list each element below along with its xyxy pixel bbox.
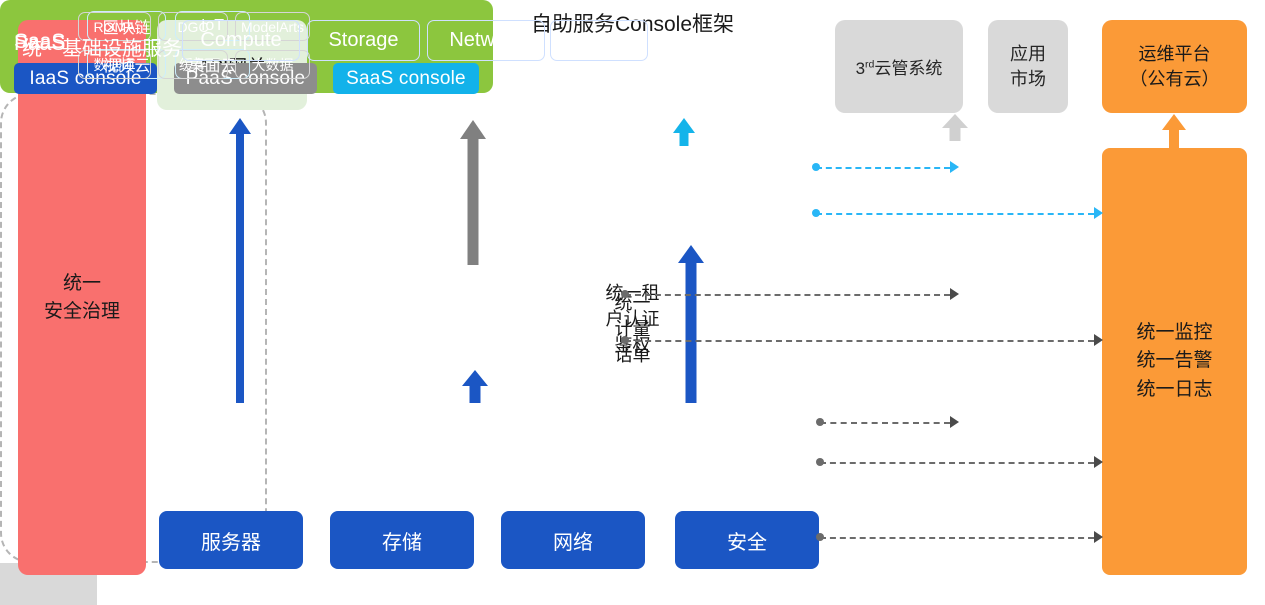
arrowhead-paas-to-ops	[1094, 334, 1103, 346]
arrowhead-iaas-to-ops	[1094, 456, 1103, 468]
ops-platform-label: 运维平台 （公有云）	[1130, 42, 1220, 91]
arrow-to-third-party-cloud	[942, 114, 968, 141]
iaas-chip-cce[interactable]: CCE	[550, 20, 648, 61]
dashed-line-paas-to-auth	[625, 294, 950, 296]
iaas-chip-network[interactable]: Network	[427, 20, 545, 61]
third-party-cloud-mgmt-label: 3rd云管系统	[856, 54, 943, 79]
hardware-box-network[interactable]: 网络	[501, 511, 645, 569]
dashed-line-saas-to-auth	[816, 167, 950, 169]
arrowhead-hardware-to-ops	[1094, 531, 1103, 543]
arrowhead-saas-to-ops	[1094, 207, 1103, 219]
arrow-paas-to-console	[461, 120, 485, 265]
app-market-box: 应用 市场	[988, 20, 1068, 113]
iaas-chip-storage[interactable]: Storage	[307, 20, 420, 61]
dashed-line-saas-to-ops	[816, 213, 1094, 215]
dashed-line-iaas-to-auth	[820, 422, 950, 424]
dashed-line-paas-to-ops	[625, 340, 1094, 342]
arrowhead-saas-to-auth	[950, 161, 959, 173]
arrow-iaas-to-paas	[463, 370, 487, 403]
arrowhead-paas-to-auth	[950, 288, 959, 300]
arrowhead-iaas-to-auth	[950, 416, 959, 428]
arrow-iaas-to-saas	[678, 245, 704, 403]
hardware-box-storage[interactable]: 存储	[330, 511, 474, 569]
arrow-saas-to-console	[673, 118, 695, 146]
dashed-line-hardware-to-ops	[820, 537, 1094, 539]
hardware-box-security[interactable]: 安全	[675, 511, 819, 569]
ops-platform-box: 运维平台 （公有云）	[1102, 20, 1247, 113]
dashed-line-iaas-to-ops	[820, 462, 1094, 464]
arrow-to-ops-platform	[1162, 114, 1186, 148]
iaas-chip-compute[interactable]: Compute	[182, 20, 300, 61]
architecture-diagram: 统一 安全治理 API网关 自助服务Console框架 IaaS console…	[0, 0, 1265, 605]
third-party-cloud-mgmt-box: 3rd云管系统	[835, 20, 963, 113]
app-market-label: 应用 市场	[1010, 42, 1046, 91]
saas-console-chip[interactable]: SaaS console	[333, 63, 479, 94]
arrow-iaas-to-api-gateway	[229, 118, 251, 403]
unified-metering-label: 统一 计量 话单	[0, 290, 1265, 368]
hardware-box-server[interactable]: 服务器	[159, 511, 303, 569]
iaas-label: 统一基础设施服务	[22, 32, 182, 61]
